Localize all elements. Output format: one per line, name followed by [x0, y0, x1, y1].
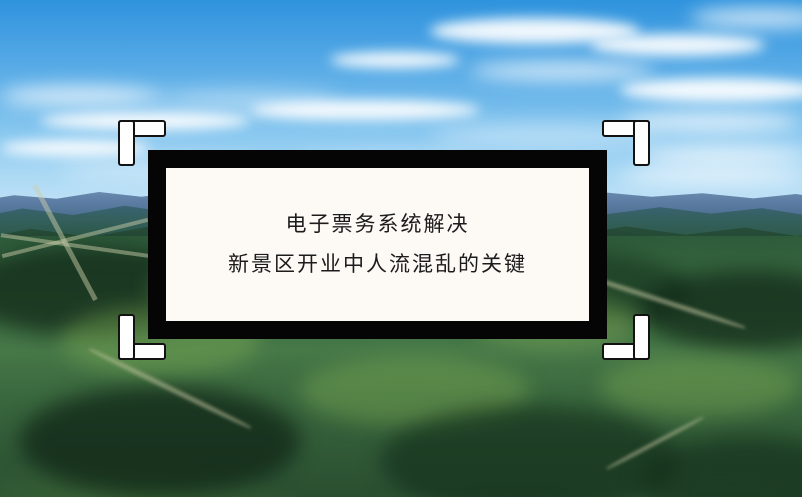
- forest-patch: [20, 386, 300, 496]
- corner-bracket-bottom-left: [118, 314, 166, 360]
- meadow-patch: [600, 356, 800, 416]
- cloud: [640, 146, 802, 164]
- cloud: [330, 52, 460, 68]
- cloud: [0, 86, 160, 106]
- title-card-inner: 电子票务系统解决 新景区开业中人流混乱的关键: [166, 168, 589, 321]
- corner-bracket-top-right: [602, 120, 650, 166]
- banner-image: 电子票务系统解决 新景区开业中人流混乱的关键: [0, 0, 802, 497]
- title-line-1: 电子票务系统解决: [286, 205, 470, 245]
- cloud: [470, 62, 655, 80]
- bracket-arm-vertical: [118, 314, 135, 360]
- cloud: [590, 34, 765, 56]
- bracket-arm-vertical: [118, 120, 135, 166]
- bracket-arm-vertical: [633, 120, 650, 166]
- bracket-arm-vertical: [633, 314, 650, 360]
- corner-bracket-top-left: [118, 120, 166, 166]
- cloud: [250, 100, 480, 120]
- title-card-frame: 电子票务系统解决 新景区开业中人流混乱的关键: [148, 150, 607, 339]
- title-line-2: 新景区开业中人流混乱的关键: [228, 245, 527, 285]
- corner-bracket-bottom-right: [602, 314, 650, 360]
- title-card: 电子票务系统解决 新景区开业中人流混乱的关键: [118, 120, 650, 360]
